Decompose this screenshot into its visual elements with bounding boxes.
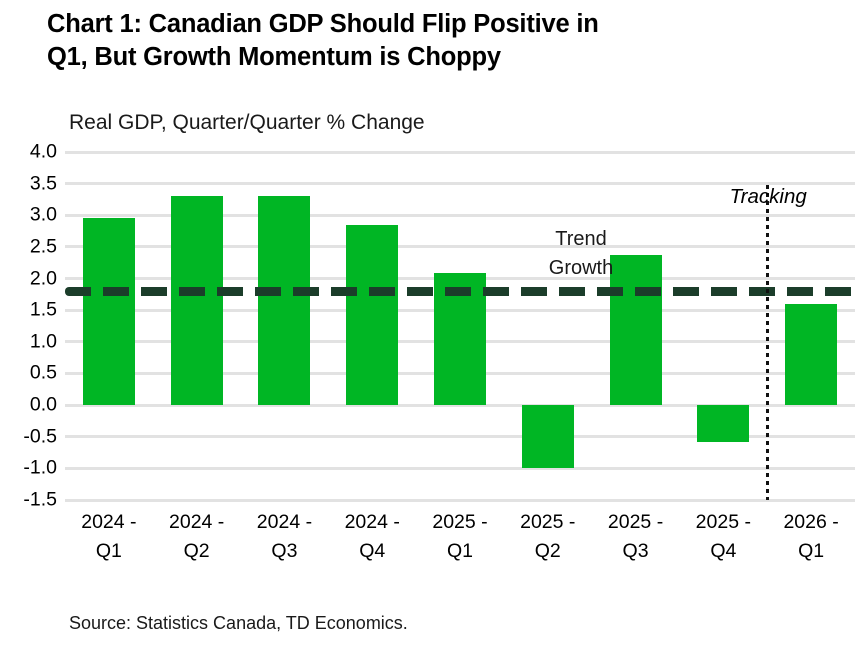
x-axis-tick-label-line: Q3 (241, 537, 329, 566)
x-axis-tick-label-line: 2024 - (153, 508, 241, 537)
gridline (65, 467, 855, 470)
chart-title: Chart 1: Canadian GDP Should Flip Positi… (47, 8, 837, 74)
trend-growth-line-1: Trend (516, 225, 646, 254)
gridline (65, 499, 855, 502)
y-axis-tick-label: 2.0 (0, 269, 57, 289)
y-axis-tick-label: 4.0 (0, 142, 57, 162)
x-axis-tick-label-line: Q4 (328, 537, 416, 566)
x-axis-tick-label: 2025 -Q3 (592, 508, 680, 566)
x-axis-tick-label-line: Q2 (504, 537, 592, 566)
x-axis-tick-label: 2025 -Q4 (679, 508, 767, 566)
y-axis: 4.03.53.02.52.01.51.00.50.0-0.5-1.0-1.5 (0, 152, 57, 500)
bar (258, 196, 310, 405)
bar (83, 218, 135, 405)
x-axis-tick-label-line: Q3 (592, 537, 680, 566)
x-axis-tick-label-line: 2025 - (416, 508, 504, 537)
tracking-divider-line (766, 185, 769, 500)
chart-title-line-2: Q1, But Growth Momentum is Choppy (47, 41, 837, 74)
x-axis-tick-label: 2024 -Q2 (153, 508, 241, 566)
x-axis-tick-label-line: 2024 - (241, 508, 329, 537)
trend-growth-line (65, 287, 855, 296)
tracking-annotation-label: Tracking (703, 185, 833, 209)
x-axis-tick-label-line: Q1 (416, 537, 504, 566)
x-axis-tick-label-line: 2025 - (679, 508, 767, 537)
bar (697, 405, 749, 442)
y-axis-tick-label: 0.5 (0, 364, 57, 384)
chart-title-line-1: Chart 1: Canadian GDP Should Flip Positi… (47, 8, 837, 41)
y-axis-tick-label: 1.0 (0, 332, 57, 352)
chart-figure: Chart 1: Canadian GDP Should Flip Positi… (0, 0, 868, 648)
y-axis-tick-label: 1.5 (0, 300, 57, 320)
bar (785, 304, 837, 405)
bar (171, 196, 223, 405)
x-axis-tick-label-line: 2026 - (767, 508, 855, 537)
bar (346, 225, 398, 405)
chart-subtitle: Real GDP, Quarter/Quarter % Change (69, 110, 425, 136)
x-axis-tick-label: 2025 -Q1 (416, 508, 504, 566)
trend-growth-annotation: Trend Growth (516, 225, 646, 283)
y-axis-tick-label: -1.0 (0, 459, 57, 479)
x-axis-tick-label: 2026 -Q1 (767, 508, 855, 566)
x-axis-tick-label-line: 2025 - (504, 508, 592, 537)
y-axis-tick-label: -0.5 (0, 427, 57, 447)
y-axis-tick-label: -1.5 (0, 490, 57, 510)
x-axis-tick-label-line: Q1 (767, 537, 855, 566)
y-axis-tick-label: 3.5 (0, 174, 57, 194)
x-axis-tick-label-line: Q4 (679, 537, 767, 566)
x-axis-tick-label-line: 2024 - (65, 508, 153, 537)
y-axis-tick-label: 3.0 (0, 206, 57, 226)
x-axis-tick-label: 2025 -Q2 (504, 508, 592, 566)
gridline (65, 151, 855, 154)
x-axis-tick-label-line: Q1 (65, 537, 153, 566)
x-axis: 2024 -Q12024 -Q22024 -Q32024 -Q42025 -Q1… (65, 508, 855, 578)
x-axis-tick-label-line: 2024 - (328, 508, 416, 537)
x-axis-tick-label: 2024 -Q4 (328, 508, 416, 566)
x-axis-tick-label-line: Q2 (153, 537, 241, 566)
y-axis-tick-label: 0.0 (0, 395, 57, 415)
trend-growth-line-2: Growth (516, 254, 646, 283)
x-axis-tick-label-line: 2025 - (592, 508, 680, 537)
x-axis-tick-label: 2024 -Q3 (241, 508, 329, 566)
source-note: Source: Statistics Canada, TD Economics. (69, 613, 408, 634)
y-axis-tick-label: 2.5 (0, 237, 57, 257)
x-axis-tick-label: 2024 -Q1 (65, 508, 153, 566)
bar (522, 405, 574, 468)
